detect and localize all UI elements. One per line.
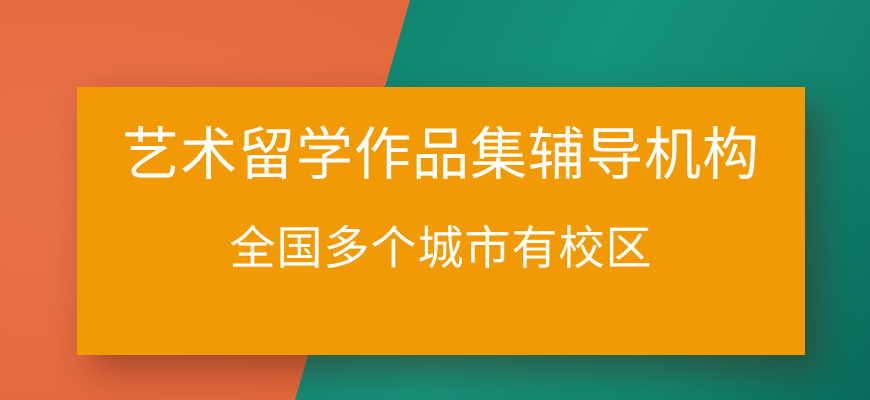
headline-card-content: 艺术留学作品集辅导机构 全国多个城市有校区 — [77, 87, 805, 355]
banner-subheadline: 全国多个城市有校区 — [230, 221, 653, 276]
headline-card: 艺术留学作品集辅导机构 全国多个城市有校区 — [77, 87, 805, 355]
promo-banner: 艺术留学作品集辅导机构 全国多个城市有校区 — [0, 0, 870, 400]
banner-headline: 艺术留学作品集辅导机构 — [122, 122, 760, 189]
